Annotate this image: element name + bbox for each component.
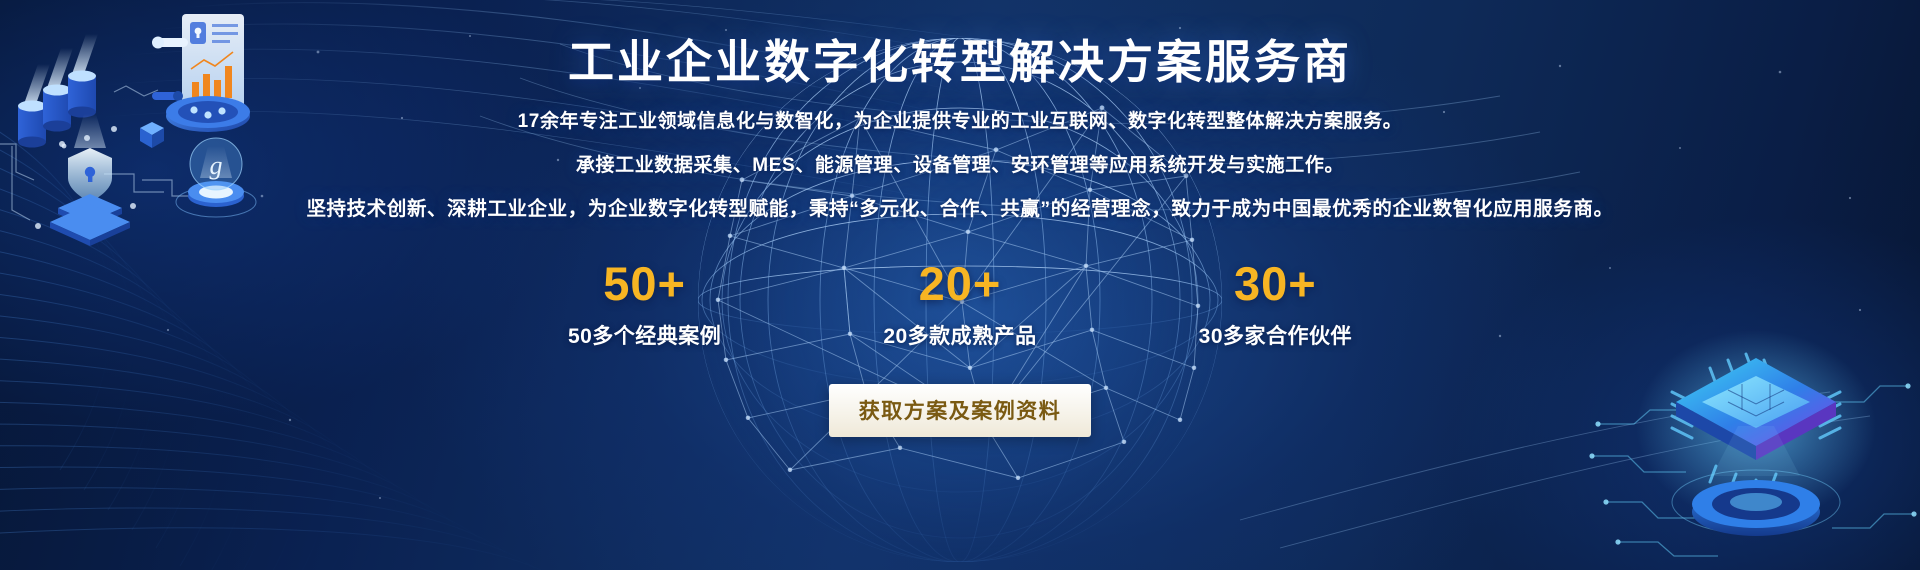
subtitle-line-2: 承接工业数据采集、MES、能源管理、设备管理、安环管理等应用系统开发与实施工作。 [0,156,1920,175]
stat-label: 20多款成熟产品 [883,320,1036,350]
subtitle-line-1: 17余年专注工业领域信息化与数智化，为企业提供专业的工业互联网、数字化转型整体解… [0,112,1920,131]
stat-label: 30多家合作伙伴 [1199,320,1352,350]
stat-item-products: 20+ 20多款成熟产品 [883,260,1036,350]
stat-label: 50多个经典案例 [568,320,721,350]
subtitle-line-3: 坚持技术创新、深耕工业企业，为企业数字化转型赋能，秉持“多元化、合作、共赢”的经… [0,200,1920,220]
stat-number: 30+ [1234,260,1317,307]
subtitle-group: 17余年专注工业领域信息化与数智化，为企业提供专业的工业互联网、数字化转型整体解… [0,112,1920,220]
stat-item-cases: 50+ 50多个经典案例 [568,260,721,350]
stat-number: 20+ [919,260,1002,307]
stat-item-partners: 30+ 30多家合作伙伴 [1199,260,1352,350]
hero-banner: g [0,0,1920,570]
get-solution-materials-button[interactable]: 获取方案及案例资料 [829,384,1092,437]
stat-number: 50+ [603,260,686,307]
stats-group: 50+ 50多个经典案例 20+ 20多款成熟产品 30+ 30多家合作伙伴 [568,260,1352,350]
banner-content: 工业企业数字化转型解决方案服务商 17余年专注工业领域信息化与数智化，为企业提供… [0,0,1920,570]
page-title: 工业企业数字化转型解决方案服务商 [568,38,1352,86]
cta-wrapper: 获取方案及案例资料 [829,384,1092,437]
